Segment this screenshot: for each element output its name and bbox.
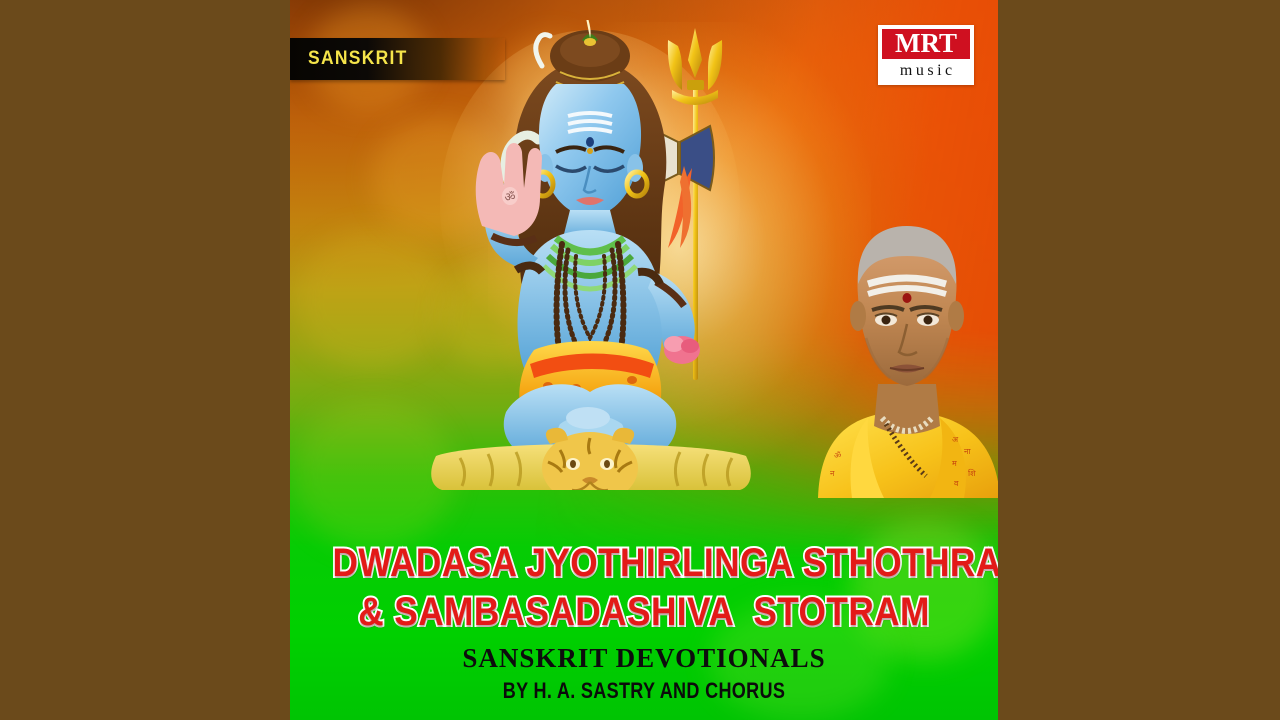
svg-text:शि: शि xyxy=(968,468,976,478)
album-credit: BY H. A. SASTRY AND CHORUS xyxy=(354,678,935,704)
shiva-illustration: ॐ xyxy=(410,20,770,490)
mrt-logo-box: MRT xyxy=(880,27,972,61)
album-title-line-1: DWADASA JYOTHIRLINGA STHOTHRAM xyxy=(332,542,955,584)
svg-text:अ: अ xyxy=(952,435,959,444)
svg-text:न: न xyxy=(830,469,835,478)
left-letterbox-border xyxy=(0,0,290,720)
svg-text:ना: ना xyxy=(964,447,971,456)
language-badge: SANSKRIT xyxy=(290,38,505,80)
screenshot-root: ॐ xyxy=(0,0,1280,720)
abhaya-hand: ॐ xyxy=(476,143,542,236)
mrt-music-logo: MRT music xyxy=(878,25,974,85)
mrt-logo-subbox: music xyxy=(880,61,972,83)
album-art: ॐ xyxy=(290,0,998,720)
language-badge-label: SANSKRIT xyxy=(308,48,408,70)
mrt-logo-word: music xyxy=(896,62,955,79)
svg-text:व: व xyxy=(954,479,959,488)
svg-text:ॐ: ॐ xyxy=(505,190,516,204)
title-block: DWADASA JYOTHIRLINGA STHOTHRAM & SAMBASA… xyxy=(290,542,998,704)
lotus-icon xyxy=(664,336,700,364)
singer-portrait: अनाम शिव ॐन xyxy=(812,218,998,498)
svg-text:म: म xyxy=(952,459,957,468)
album-subtitle: SANSKRIT DEVOTIONALS xyxy=(290,643,998,674)
mrt-logo-brand: MRT xyxy=(895,28,957,58)
album-title-line-2: & SAMBASADASHIVA STOTRAM xyxy=(332,591,955,633)
svg-text:ॐ: ॐ xyxy=(834,451,841,460)
tiger-head-icon xyxy=(542,428,638,490)
right-letterbox-border xyxy=(998,0,1280,720)
